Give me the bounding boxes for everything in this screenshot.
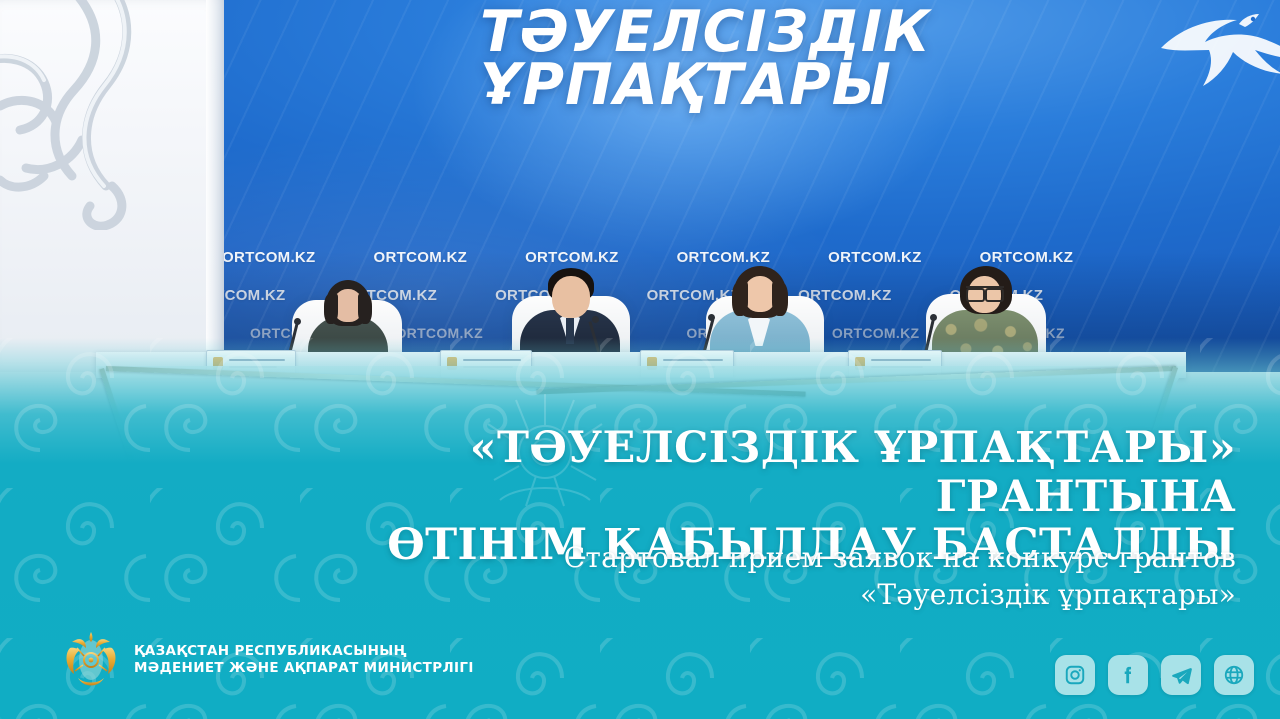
microphone-head (592, 316, 599, 323)
speaker-head (552, 276, 590, 318)
subheadline: Стартовал прием заявок на конкурс гранто… (356, 540, 1236, 614)
speaker-hair-side (324, 294, 338, 324)
speaker-hair-side (732, 282, 748, 316)
speaker-hair-side (358, 294, 372, 324)
ministry-name: ҚАЗАҚСТАН РЕСПУБЛИКАСЫНЫҢ МӘДЕНИЕТ ЖӘНЕ … (134, 643, 474, 678)
watermark-text: ORTCOM.KZ (828, 249, 922, 266)
glasses-icon (966, 286, 1004, 296)
headline-line-1: «ТӘУЕЛСІЗДІК ҰРПАҚТАРЫ» ГРАНТЫНА (236, 424, 1236, 521)
social-links (1055, 655, 1254, 695)
subheadline-line-2: «Тәуелсіздік ұрпақтары» (356, 577, 1236, 614)
subheadline-line-1: Стартовал прием заявок на конкурс гранто… (356, 540, 1236, 577)
wall-edge (206, 0, 224, 372)
instagram-icon[interactable] (1055, 655, 1095, 695)
watermark-text: ORTCOM.KZ (677, 249, 771, 266)
website-icon[interactable] (1214, 655, 1254, 695)
speaker-hair-side (772, 282, 788, 316)
facebook-icon[interactable] (1108, 655, 1148, 695)
microphone-head (294, 318, 301, 325)
ministry-branding: ҚАЗАҚСТАН РЕСПУБЛИКАСЫНЫҢ МӘДЕНИЕТ ЖӘНЕ … (62, 628, 474, 692)
watermark-text: ORTCOM.KZ (222, 287, 286, 304)
eagle-icon (1147, 0, 1280, 124)
ministry-line-1: ҚАЗАҚСТАН РЕСПУБЛИКАСЫНЫҢ (134, 643, 474, 660)
kazakh-ornament-relief-icon (0, 0, 196, 230)
microphone-head (930, 314, 937, 321)
watermark-text: ORTCOM.KZ (525, 249, 619, 266)
backdrop-glow (402, 0, 962, 260)
backdrop-title-line1: ТӘУЕЛСІЗДІК (480, 6, 1180, 59)
watermark-text: ORTCOM.KZ (222, 249, 316, 266)
ornament-wall-panel (0, 0, 224, 372)
announcement-card: ТӘУЕЛСІЗДІК ҰРПАҚТАРЫ ORTCOM.KZ ORTCOM.K… (0, 0, 1280, 719)
ministry-line-2: МӘДЕНИЕТ ЖӘНЕ АҚПАРАТ МИНИСТРЛІГІ (134, 660, 474, 677)
watermark-text: ORTCOM.KZ (980, 249, 1074, 266)
backdrop-title: ТӘУЕЛСІЗДІК ҰРПАҚТАРЫ (480, 6, 1180, 112)
watermark-text: ORTCOM.KZ (374, 249, 468, 266)
kazakhstan-coat-of-arms-icon (62, 628, 120, 692)
backdrop-title-line2: ҰРПАҚТАРЫ (480, 59, 1180, 112)
telegram-icon[interactable] (1161, 655, 1201, 695)
microphone-head (708, 314, 715, 321)
